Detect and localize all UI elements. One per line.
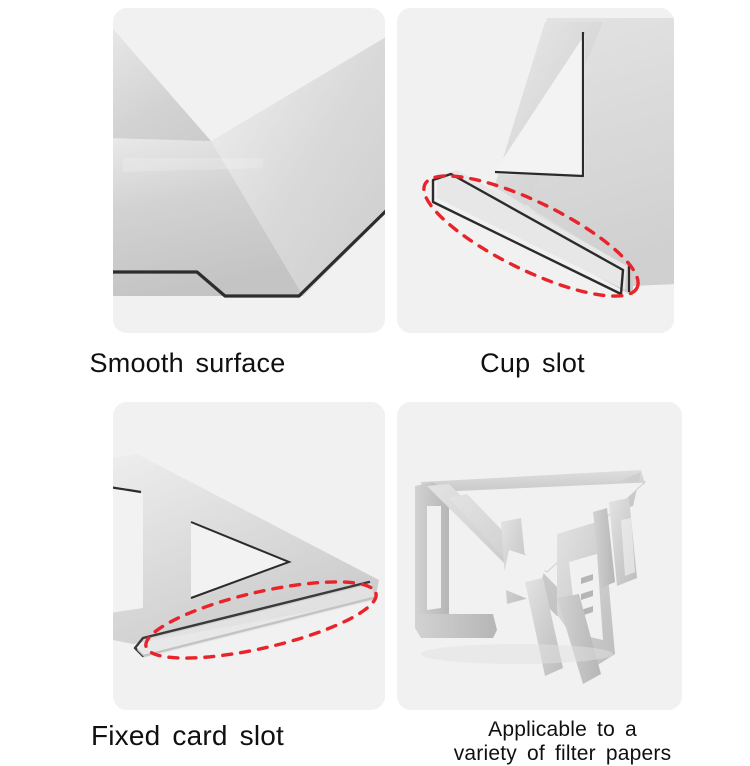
feature-cell-smooth-surface: Smooth surface: [0, 0, 375, 390]
product-feature-collage: Smooth surface: [0, 0, 750, 750]
feature-image-cup-slot: [397, 8, 674, 333]
assembled-stand-illustration: [397, 402, 682, 710]
feature-cell-cup-slot: Cup slot: [375, 0, 750, 390]
feature-caption-fixed-card-slot: Fixed card slot: [0, 720, 375, 752]
feature-cell-fixed-card-slot: Fixed card slot: [0, 390, 375, 750]
card-slot-illustration: [113, 402, 385, 710]
feature-grid: Smooth surface: [0, 0, 750, 750]
feature-cell-filter-papers: Applicable to a variety of filter papers: [375, 390, 750, 750]
smooth-surface-artwork: [113, 8, 385, 333]
feature-image-smooth-surface: [113, 8, 385, 333]
feature-image-filter-papers: [397, 402, 682, 710]
feature-image-fixed-card-slot: [113, 402, 385, 710]
triangular-frame-illustration: [397, 8, 674, 333]
assembled-stand-artwork: [397, 402, 682, 710]
feature-caption-cup-slot: Cup slot: [315, 348, 750, 379]
cup-slot-artwork: [397, 8, 674, 333]
feature-caption-filter-papers: Applicable to a variety of filter papers: [393, 718, 732, 766]
metal-closeup-illustration: [113, 8, 385, 333]
fixed-card-slot-artwork: [113, 402, 385, 710]
